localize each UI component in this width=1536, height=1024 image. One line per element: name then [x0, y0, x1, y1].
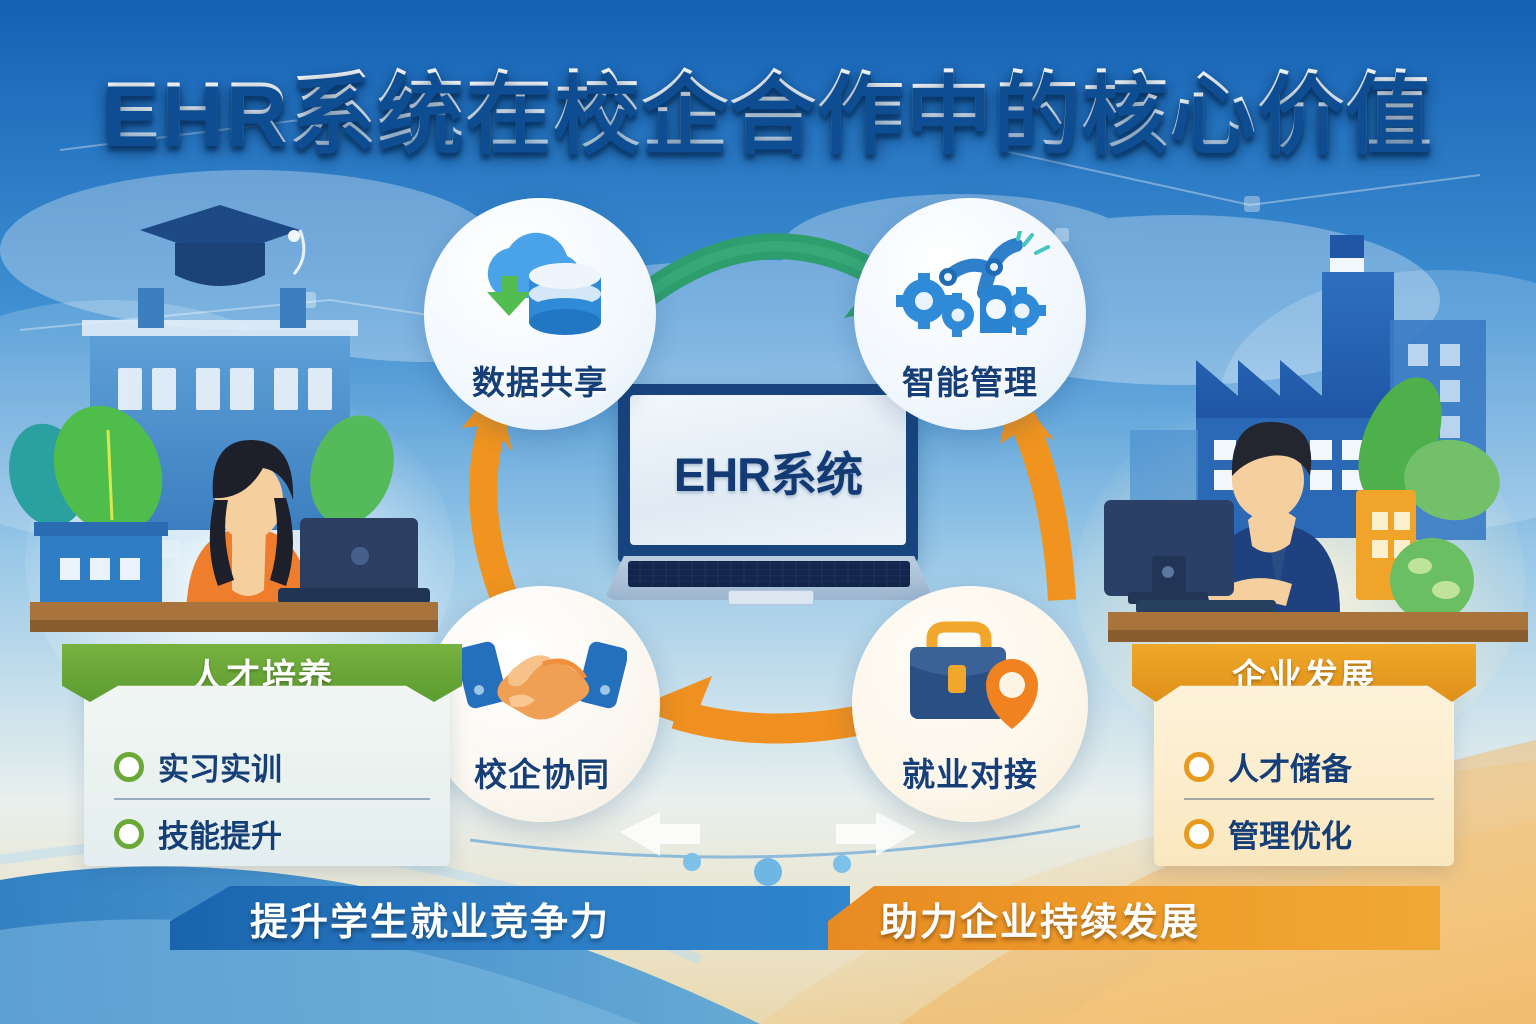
node-smart-manage[interactable]: 智能管理: [854, 198, 1086, 430]
list-item-label: 人才储备: [1228, 744, 1352, 789]
ribbon-right-title: 企业发展: [1132, 644, 1476, 702]
banner-student-outcome: 提升学生就业竞争力: [170, 886, 850, 950]
robot-arm-gears-icon: [854, 235, 1086, 339]
list-item[interactable]: 实习实训: [114, 738, 430, 798]
screen-label: EHR系统: [674, 436, 862, 505]
center-laptop: EHR系统: [604, 384, 934, 614]
node-label: 智能管理: [902, 356, 1038, 404]
page-title: EHR系统在校企合作中的核心价值: [0, 42, 1536, 167]
panel-talent-cultivation: 人才培养 实习实训 技能提升: [84, 676, 450, 866]
laptop-lid: EHR系统: [618, 384, 918, 562]
node-data-sharing[interactable]: 数据共享: [424, 198, 656, 430]
node-school-company[interactable]: 校企协同: [424, 586, 660, 822]
laptop-keyboard: [628, 561, 910, 587]
list-item-label: 技能提升: [158, 811, 282, 856]
infographic-canvas: EHR系统在校企合作中的核心价值 EHR系统 数据共享: [0, 0, 1536, 1024]
panel-enterprise-development: 企业发展 人才储备 管理优化: [1154, 676, 1454, 866]
ribbon-left-title: 人才培养: [62, 644, 462, 702]
left-panel-list: 实习实训 技能提升: [114, 738, 430, 865]
briefcase-location-icon: [852, 624, 1088, 730]
list-item-label: 管理优化: [1228, 811, 1352, 856]
bullet-icon: [114, 819, 144, 849]
list-item[interactable]: 管理优化: [1184, 798, 1434, 865]
node-label: 校企协同: [474, 748, 610, 796]
list-item[interactable]: 人才储备: [1184, 738, 1434, 798]
list-item[interactable]: 技能提升: [114, 798, 430, 865]
banner-enterprise-outcome: 助力企业持续发展: [828, 886, 1440, 950]
bullet-icon: [1184, 752, 1214, 782]
cloud-database-icon: [424, 235, 656, 339]
bullet-icon: [1184, 819, 1214, 849]
right-panel-list: 人才储备 管理优化: [1184, 738, 1434, 865]
node-employment[interactable]: 就业对接: [852, 586, 1088, 822]
bullet-icon: [114, 752, 144, 782]
node-label: 数据共享: [472, 356, 608, 404]
node-label: 就业对接: [902, 748, 1038, 796]
list-item-label: 实习实训: [158, 744, 282, 789]
laptop-screen: EHR系统: [630, 395, 906, 545]
laptop-trackpad: [728, 590, 814, 605]
